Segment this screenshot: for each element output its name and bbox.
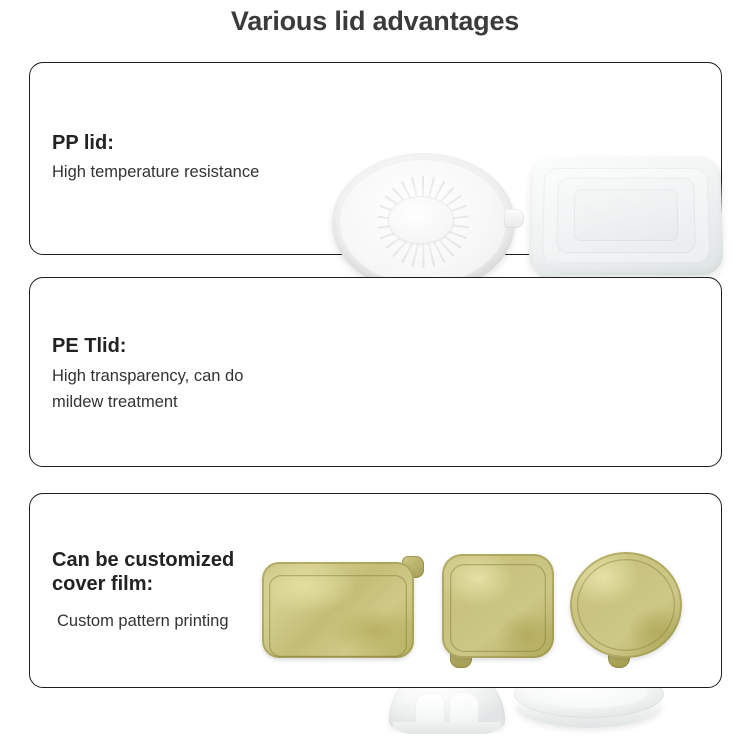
gold-square-foil-lid-body bbox=[442, 554, 554, 658]
round-pp-lid-rib bbox=[431, 227, 462, 249]
round-pp-lid-rib bbox=[380, 205, 414, 220]
round-pp-lid-rib bbox=[424, 232, 435, 267]
gold-square-foil-lid-image bbox=[442, 552, 564, 668]
panel-pp-lid-text-block: PP lid: High temperature resistance bbox=[52, 131, 259, 185]
round-pp-lid-rib bbox=[433, 222, 469, 229]
round-pp-lid-rib bbox=[433, 215, 469, 222]
panel-pe-lid-heading: PE Tlid: bbox=[52, 334, 243, 358]
round-pp-lid-rib bbox=[411, 177, 422, 212]
panel-pe-lid-text-block: PE Tlid: High transparency, can do milde… bbox=[52, 334, 243, 415]
round-pp-lid-rib bbox=[422, 232, 424, 268]
round-pp-lid-rib bbox=[427, 181, 446, 214]
round-pp-lid-body bbox=[332, 153, 515, 293]
gold-round-foil-lid-inner bbox=[577, 559, 675, 651]
round-pp-lid-rim bbox=[339, 159, 507, 285]
panel-pp-lid-heading: PP lid: bbox=[52, 131, 259, 155]
round-dome-lid-highlight-left bbox=[415, 692, 445, 726]
round-pp-lid-rib bbox=[401, 230, 420, 263]
round-pp-lid-rib bbox=[377, 222, 413, 229]
rectangular-pp-lid-ring-3 bbox=[574, 189, 679, 241]
rectangular-pp-lid-ring-2 bbox=[556, 178, 696, 253]
panel-pe-lid: PE Tlid: High transparency, can do milde… bbox=[29, 277, 722, 467]
round-pp-lid-rib bbox=[431, 195, 462, 217]
panel-cover-film-heading: Can be customized cover film: bbox=[52, 548, 234, 596]
gold-round-foil-lid-body bbox=[570, 552, 682, 658]
round-dome-lid-foot bbox=[393, 722, 501, 734]
round-pp-lid-rib bbox=[432, 205, 466, 220]
round-pp-lid-ribs bbox=[350, 168, 496, 276]
rectangular-pp-lid-image bbox=[530, 151, 726, 287]
round-pp-lid-rib bbox=[384, 195, 415, 217]
panel-pp-lid-subtext: High temperature resistance bbox=[52, 159, 259, 185]
panel-cover-film-subtext: Custom pattern printing bbox=[52, 608, 234, 634]
rectangular-pp-lid-body bbox=[528, 156, 723, 275]
gold-square-foil-lid-inner bbox=[450, 564, 546, 652]
panel-pe-lid-subtext: High transparency, can do mildew treatme… bbox=[52, 363, 243, 415]
round-pp-lid-rib bbox=[401, 181, 420, 214]
round-pp-lid-rib bbox=[380, 224, 414, 239]
round-pp-lid-rib bbox=[384, 227, 415, 249]
round-pp-lid-rib bbox=[432, 224, 466, 239]
round-pp-lid-rib bbox=[392, 229, 418, 257]
round-pp-lid-center bbox=[388, 196, 454, 244]
round-dome-lid-highlight-right bbox=[449, 692, 479, 726]
gold-rectangular-foil-lid-inner bbox=[269, 575, 407, 657]
round-pp-lid-rib bbox=[377, 215, 413, 222]
round-pp-lid-rib bbox=[422, 176, 424, 212]
rectangular-pp-lid-ring-1 bbox=[542, 168, 710, 263]
gold-round-foil-lid-image bbox=[570, 552, 692, 670]
gold-rectangular-foil-lid-image bbox=[262, 556, 422, 660]
gold-rectangular-foil-lid-body bbox=[262, 562, 414, 658]
round-pp-lid-rib bbox=[429, 229, 455, 257]
round-pp-lid-tab bbox=[504, 209, 524, 228]
panel-pp-lid: PP lid: High temperature resistance bbox=[29, 62, 722, 255]
round-pp-lid-rib bbox=[429, 187, 455, 215]
round-pp-lid-rib bbox=[424, 177, 435, 212]
panel-cover-film-text-block: Can be customized cover film: Custom pat… bbox=[52, 548, 234, 634]
round-pp-lid-rib bbox=[427, 230, 446, 263]
oval-flat-lid-skirt bbox=[516, 682, 662, 728]
round-pp-lid-rib bbox=[411, 232, 422, 267]
page-title: Various lid advantages bbox=[0, 6, 750, 37]
round-pp-lid-rib bbox=[392, 187, 418, 215]
